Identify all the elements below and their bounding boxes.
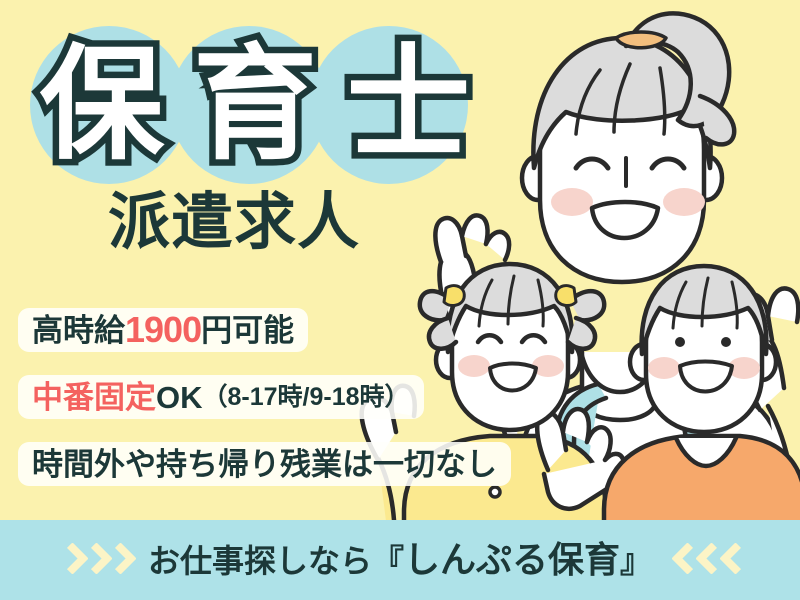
wage-label-suffix: 円可能 [201,315,294,346]
page-title: 保 育 士 [26,30,486,180]
cta-open-bracket: 『 [372,543,404,579]
chevron-left-icon [722,544,741,576]
cta-lead: お仕事探しなら [148,543,372,579]
chevrons-right-group [59,544,126,576]
title-char-2: 育 [179,43,332,167]
wage-amount: 1900 [125,312,201,348]
chevrons-left-group [674,544,741,576]
shift-hours: （8-17時/9-18時） [203,385,410,410]
chevron-right-icon [59,544,78,576]
chevron-right-icon [83,544,102,576]
title-char-3: 士 [333,43,486,167]
page-subtitle: 派遣求人 [108,192,360,254]
feature-box-shift: 中番固定 OK （8-17時/9-18時） [18,375,424,419]
job-ad-banner: 保 育 士 派遣求人 高時給 1900 円可能 中番固定 OK （8-17時/9… [0,0,800,600]
feature-box-wage: 高時給 1900 円可能 [18,308,308,352]
cta-text: お仕事探しなら『しんぷる保育』 [148,542,652,578]
title-char-1: 保 [26,43,179,167]
shift-label-accent: 中番固定 [32,382,156,413]
chevron-left-icon [674,544,693,576]
chevron-right-icon [107,544,126,576]
cta-close-bracket: 』 [620,543,652,579]
overtime-label: 時間外や持ち帰り残業は一切なし [32,449,497,480]
chevron-left-icon [698,544,717,576]
brand-name: しんぷる保育 [404,539,620,580]
wage-label-prefix: 高時給 [32,315,125,346]
feature-box-overtime: 時間外や持ち帰り残業は一切なし [18,442,511,486]
shift-label-ok: OK [156,382,203,413]
bottom-cta-bar: お仕事探しなら『しんぷる保育』 [0,520,800,600]
